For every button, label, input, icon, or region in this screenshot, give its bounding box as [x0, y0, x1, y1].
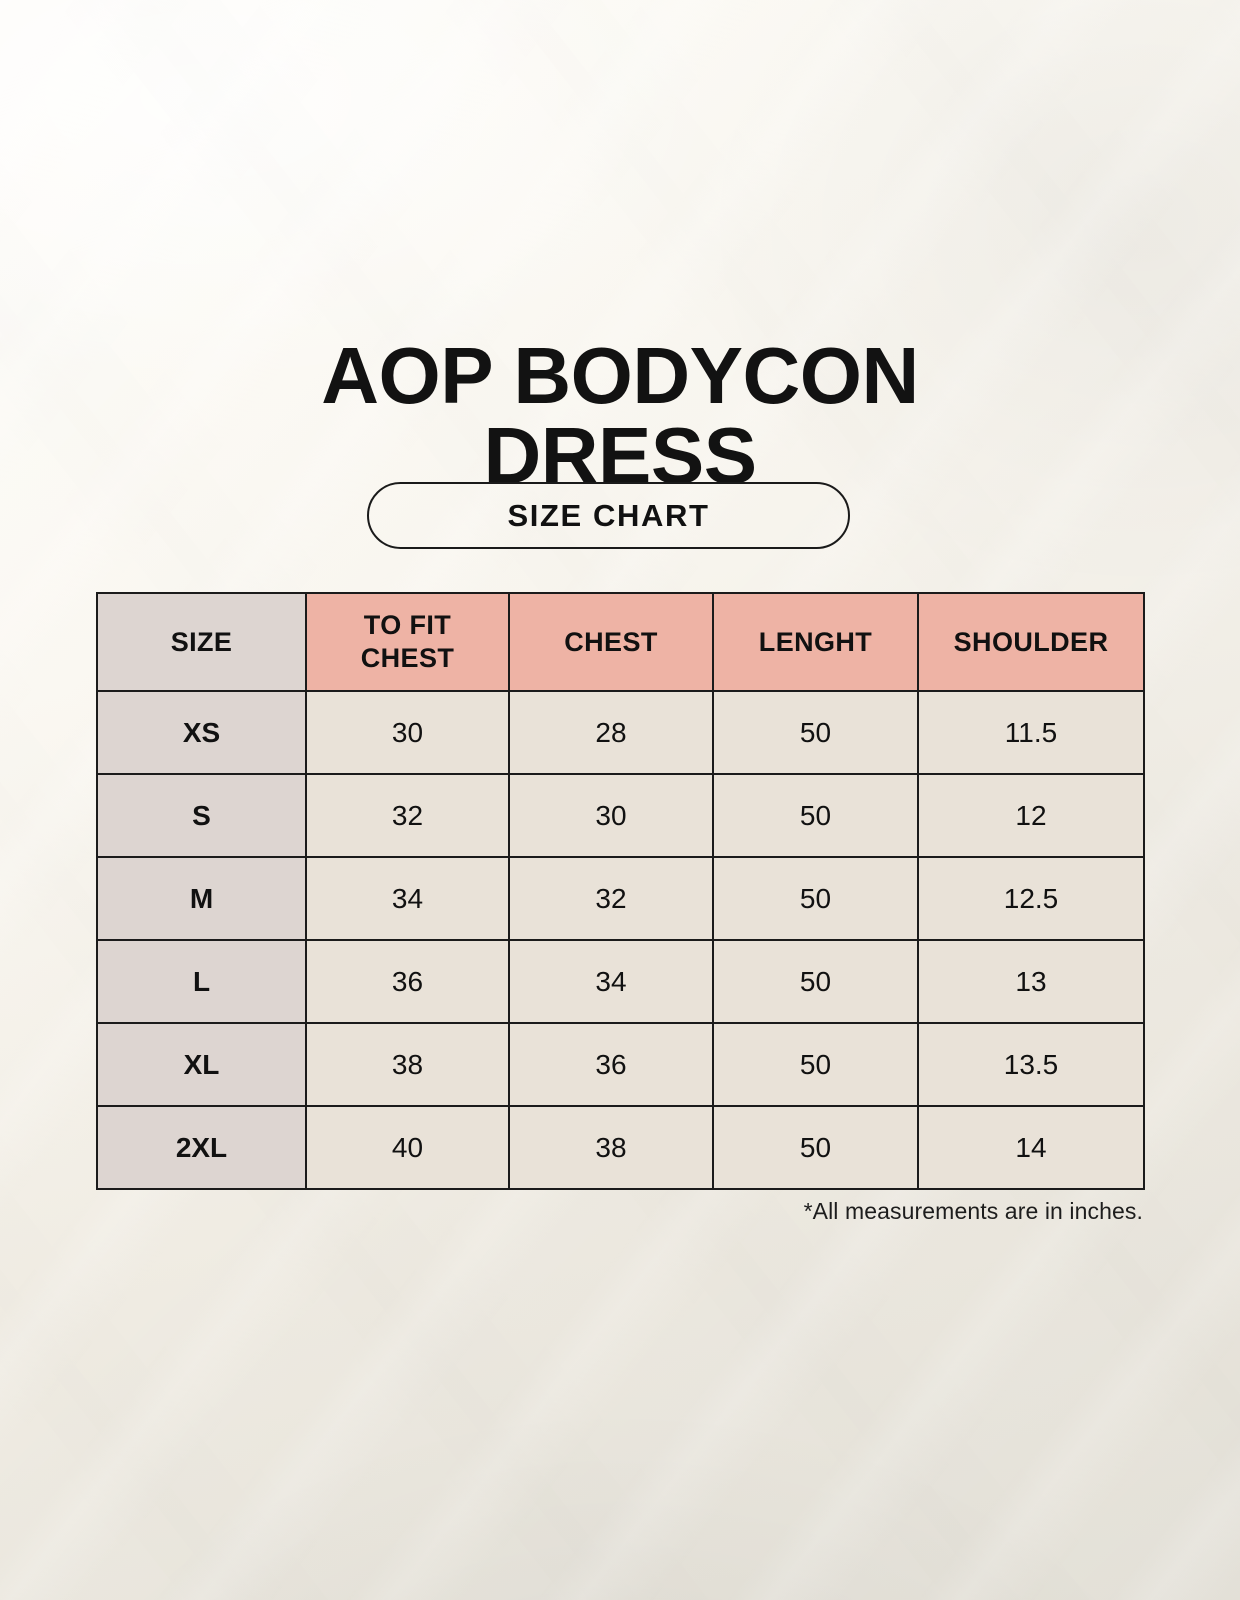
cell-to-fit-chest: 36: [306, 940, 509, 1023]
cell-shoulder: 11.5: [918, 691, 1144, 774]
table-row: XS 30 28 50 11.5: [97, 691, 1144, 774]
measurement-units-note: *All measurements are in inches.: [96, 1198, 1143, 1225]
column-header-shoulder: SHOULDER: [918, 593, 1144, 691]
cell-to-fit-chest: 32: [306, 774, 509, 857]
cell-chest: 36: [509, 1023, 713, 1106]
size-chart-table: SIZE TO FIT CHEST CHEST LENGHT SHOULDER …: [96, 592, 1145, 1190]
cell-length: 50: [713, 1023, 918, 1106]
cell-size: XS: [97, 691, 306, 774]
cell-chest: 38: [509, 1106, 713, 1189]
cell-length: 50: [713, 774, 918, 857]
column-header-chest: CHEST: [509, 593, 713, 691]
cell-chest: 34: [509, 940, 713, 1023]
cell-chest: 30: [509, 774, 713, 857]
cell-length: 50: [713, 1106, 918, 1189]
cell-shoulder: 13: [918, 940, 1144, 1023]
cell-shoulder: 12: [918, 774, 1144, 857]
cell-length: 50: [713, 940, 918, 1023]
cell-shoulder: 12.5: [918, 857, 1144, 940]
cell-shoulder: 13.5: [918, 1023, 1144, 1106]
cell-size: XL: [97, 1023, 306, 1106]
size-chart-document: AOP BODYCON DRESS SIZE CHART SIZE TO FIT…: [0, 0, 1240, 1600]
table-header-row: SIZE TO FIT CHEST CHEST LENGHT SHOULDER: [97, 593, 1144, 691]
cell-size: 2XL: [97, 1106, 306, 1189]
table-row: XL 38 36 50 13.5: [97, 1023, 1144, 1106]
cell-to-fit-chest: 38: [306, 1023, 509, 1106]
column-header-size: SIZE: [97, 593, 306, 691]
size-chart-badge-label: SIZE CHART: [508, 498, 710, 534]
cell-chest: 32: [509, 857, 713, 940]
table-row: L 36 34 50 13: [97, 940, 1144, 1023]
size-chart-badge: SIZE CHART: [367, 482, 850, 549]
table-row: S 32 30 50 12: [97, 774, 1144, 857]
cell-to-fit-chest: 34: [306, 857, 509, 940]
cell-length: 50: [713, 857, 918, 940]
cell-length: 50: [713, 691, 918, 774]
cell-size: L: [97, 940, 306, 1023]
table-row: 2XL 40 38 50 14: [97, 1106, 1144, 1189]
cell-to-fit-chest: 40: [306, 1106, 509, 1189]
column-header-to-fit-chest: TO FIT CHEST: [306, 593, 509, 691]
page-title: AOP BODYCON DRESS: [0, 336, 1240, 496]
cell-size: M: [97, 857, 306, 940]
cell-to-fit-chest: 30: [306, 691, 509, 774]
column-header-length: LENGHT: [713, 593, 918, 691]
cell-size: S: [97, 774, 306, 857]
cell-chest: 28: [509, 691, 713, 774]
cell-shoulder: 14: [918, 1106, 1144, 1189]
table-row: M 34 32 50 12.5: [97, 857, 1144, 940]
